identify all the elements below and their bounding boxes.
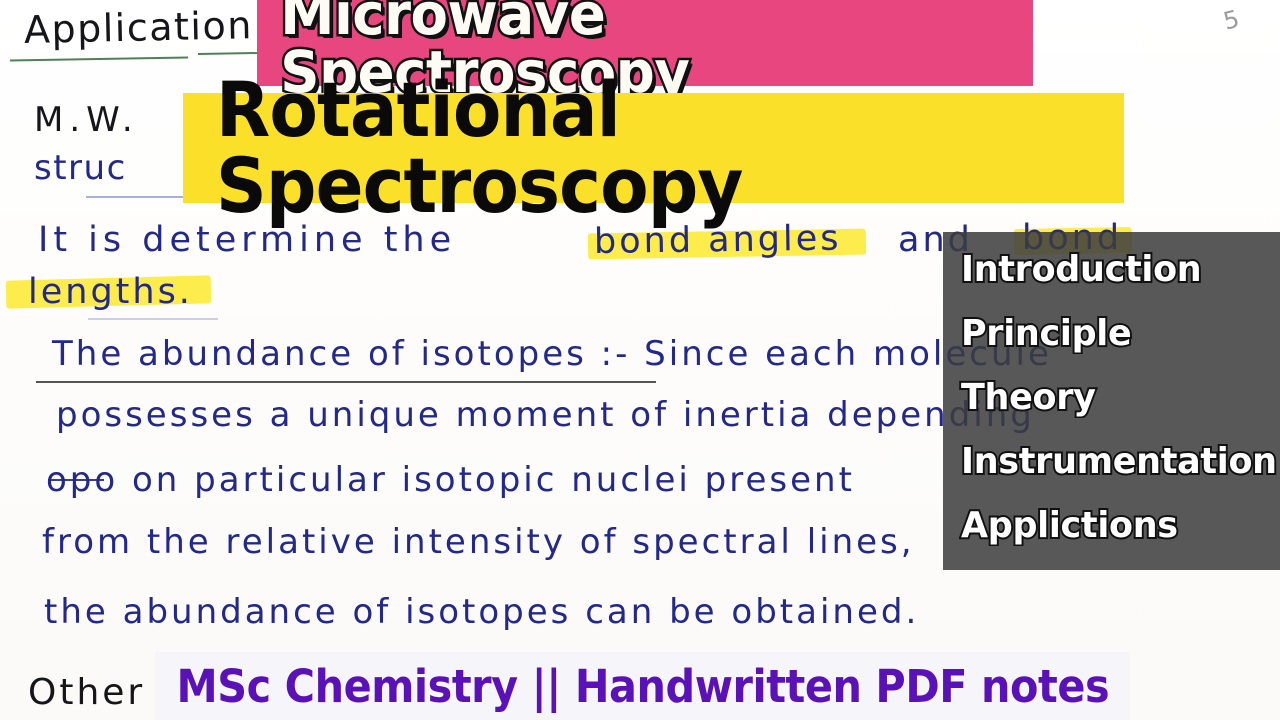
page-number: 5 xyxy=(1221,4,1244,35)
underline-abundance-isotopes xyxy=(36,381,656,383)
title-rotational-spectroscopy: Rotational Spectroscopy xyxy=(216,72,1091,224)
caption-band: MSc Chemistry || Handwritten PDF notes xyxy=(155,652,1130,720)
strikethrough-opo xyxy=(48,479,104,481)
handwritten-word-lengths: lengths. xyxy=(28,272,193,312)
topic-list-item-theory: Theory xyxy=(961,366,1270,430)
topic-list-item-introduction: Introduction xyxy=(961,238,1270,302)
video-thumbnail: Application M.W. struc It is determine t… xyxy=(0,0,1280,720)
handwritten-line-obtained: the abundance of isotopes can be obtaine… xyxy=(44,592,919,632)
handwritten-line-mw: M.W. xyxy=(34,100,139,140)
handwritten-line-abundance-heading: The abundance of isotopes :- Since each … xyxy=(52,334,1052,374)
underline-struc xyxy=(86,196,196,198)
topic-list-item-applictions: Applictions xyxy=(961,494,1270,558)
title-banner-secondary: Rotational Spectroscopy xyxy=(183,93,1124,203)
handwritten-line-other: Other xyxy=(28,672,145,713)
topic-list-item-principle: Principle xyxy=(961,302,1270,366)
underline-application xyxy=(10,56,188,61)
handwritten-line-relative-intensity: from the relative intensity of spectral … xyxy=(42,522,915,562)
topic-list-overlay: Introduction Principle Theory Instrument… xyxy=(943,232,1280,570)
handwritten-line-possesses: possesses a unique moment of inertia dep… xyxy=(56,395,1035,435)
handwritten-line-struc: struc xyxy=(34,148,127,188)
handwritten-line-particular: opo on particular isotopic nuclei presen… xyxy=(46,460,855,500)
topic-list-item-instrumentation: Instrumentation xyxy=(961,430,1270,494)
caption-text: MSc Chemistry || Handwritten PDF notes xyxy=(176,664,1109,709)
handwritten-line-application: Application xyxy=(24,3,254,52)
stray-mark-lengths xyxy=(88,318,218,320)
